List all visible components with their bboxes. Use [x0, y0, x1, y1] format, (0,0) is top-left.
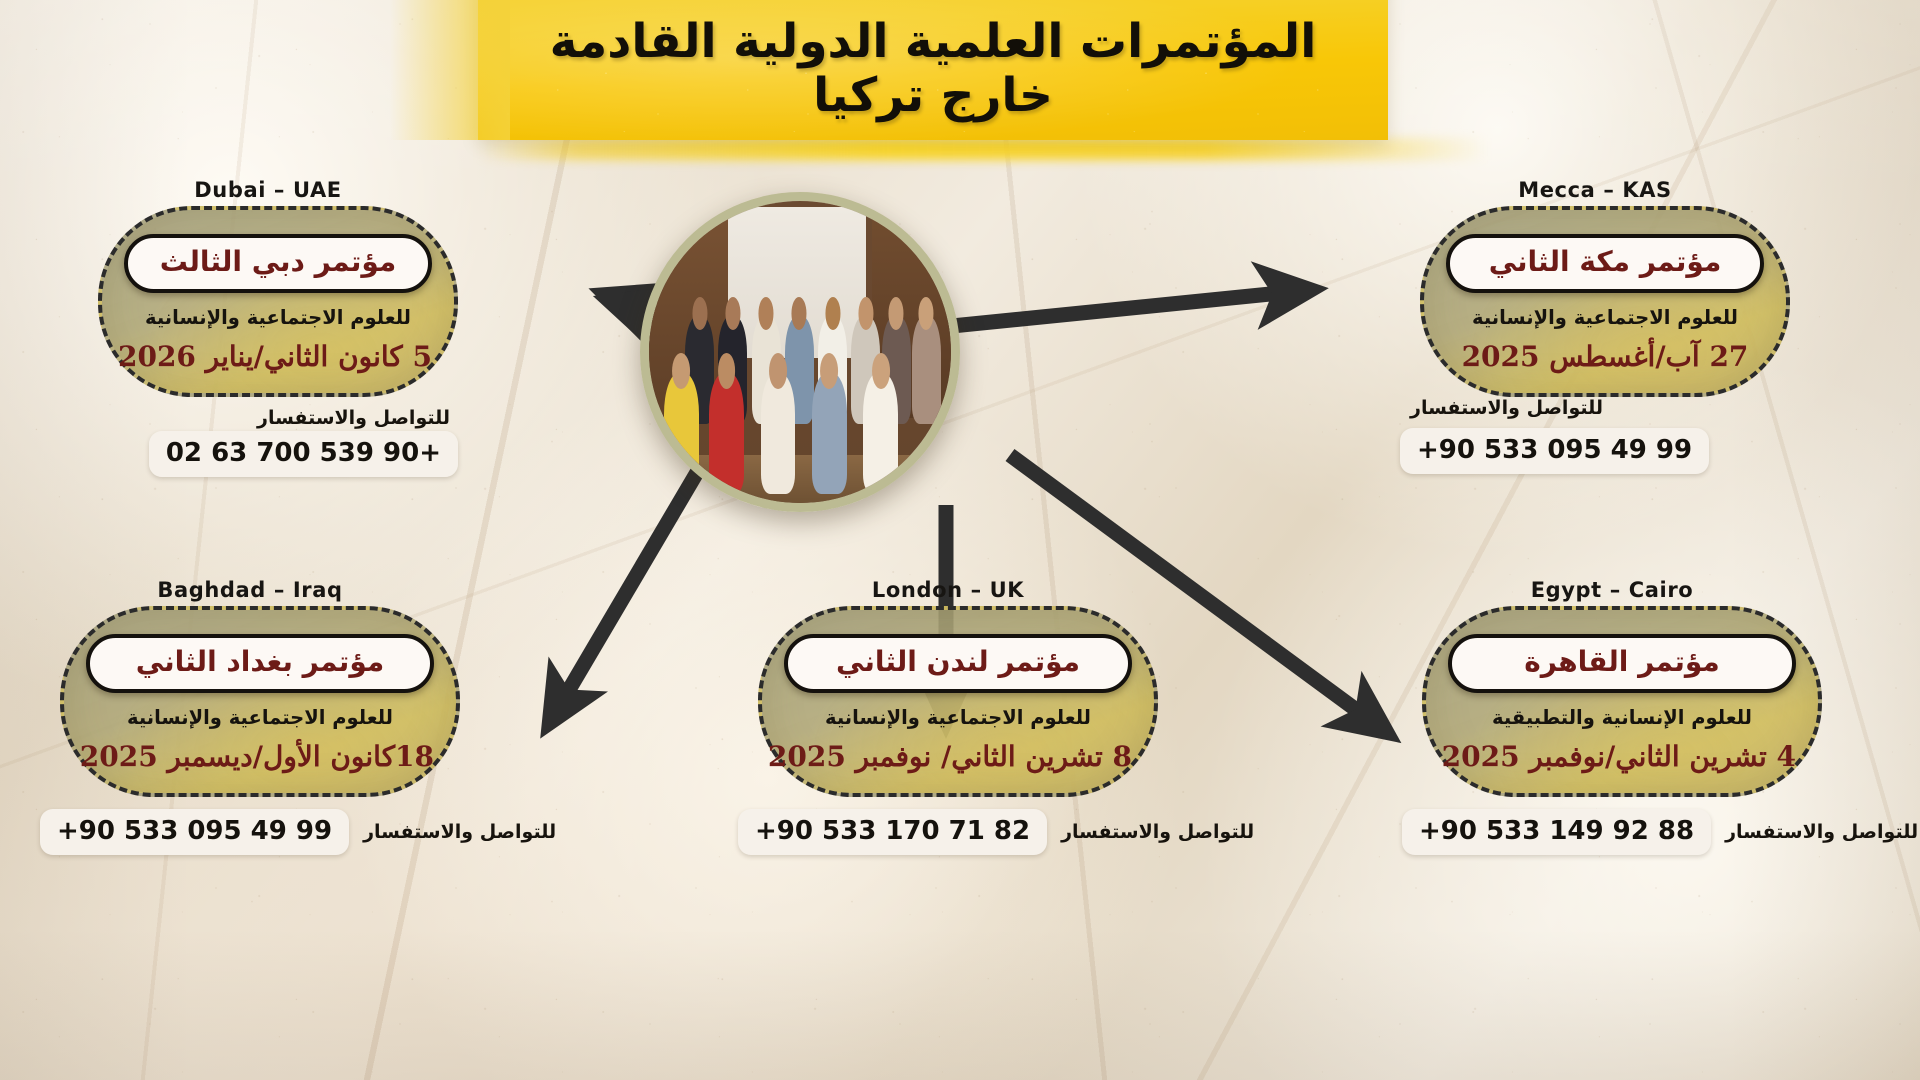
conference-date-mecca: 27 آب/أغسطس 2025 — [1446, 342, 1764, 373]
conference-card-baghdad[interactable]: Baghdad – Iraq مؤتمر بغداد الثاني للعلوم… — [40, 578, 460, 855]
conference-subtitle-london: للعلوم الاجتماعية والإنسانية — [784, 707, 1132, 729]
phone-number-dubai[interactable]: +90 539 700 63 02 — [149, 431, 458, 477]
conference-name-pill-dubai: مؤتمر دبي الثالث — [124, 234, 432, 293]
conference-card-mecca[interactable]: Mecca – KAS مؤتمر مكة الثاني للعلوم الاج… — [1400, 178, 1790, 474]
phone-number-mecca[interactable]: +90 533 095 49 99 — [1400, 428, 1709, 474]
contact-block-dubai: للتواصل والاستفسار +90 539 700 63 02 — [78, 407, 458, 468]
phone-number-baghdad[interactable]: +90 533 095 49 99 — [40, 809, 349, 855]
conference-card-dubai[interactable]: Dubai – UAE مؤتمر دبي الثالث للعلوم الاج… — [78, 178, 458, 468]
conference-subtitle-dubai: للعلوم الاجتماعية والإنسانية — [124, 307, 432, 329]
contact-block-mecca: للتواصل والاستفسار +90 533 095 49 99 — [1400, 397, 1790, 474]
card-body-dubai: مؤتمر دبي الثالث للعلوم الاجتماعية والإن… — [98, 206, 458, 397]
contact-block-london: للتواصل والاستفسار +90 533 170 71 82 — [738, 809, 1158, 855]
conference-group-photo — [640, 192, 960, 512]
conference-name-dubai: مؤتمر دبي الثالث — [160, 245, 397, 278]
card-body-baghdad: مؤتمر بغداد الثاني للعلوم الاجتماعية وال… — [60, 606, 460, 797]
conference-subtitle-baghdad: للعلوم الاجتماعية والإنسانية — [86, 707, 434, 729]
conference-date-baghdad: 18كانون الأول/ديسمبر 2025 — [86, 742, 434, 773]
contact-label-baghdad: للتواصل والاستفسار — [363, 821, 556, 843]
city-label-dubai: Dubai – UAE — [78, 178, 458, 202]
arrow-to-mecca — [912, 292, 1290, 330]
conference-date-dubai: 5 كانون الثاني/يناير 2026 — [124, 342, 432, 373]
conference-name-mecca: مؤتمر مكة الثاني — [1489, 245, 1722, 278]
conference-subtitle-cairo: للعلوم الإنسانية والتطبيقية — [1448, 707, 1796, 729]
conference-name-london: مؤتمر لندن الثاني — [836, 645, 1080, 678]
poster-canvas: المؤتمرات العلمية الدولية القادمة خارج ت… — [0, 0, 1920, 1080]
contact-label-mecca: للتواصل والاستفسار — [1410, 397, 1603, 419]
conference-name-pill-mecca: مؤتمر مكة الثاني — [1446, 234, 1764, 293]
card-body-london: مؤتمر لندن الثاني للعلوم الاجتماعية والإ… — [758, 606, 1158, 797]
conference-name-baghdad: مؤتمر بغداد الثاني — [136, 645, 384, 678]
city-label-cairo: Egypt – Cairo — [1402, 578, 1822, 602]
phone-number-cairo[interactable]: +90 533 149 92 88 — [1402, 809, 1711, 855]
contact-label-cairo: للتواصل والاستفسار — [1725, 821, 1918, 843]
conference-name-pill-london: مؤتمر لندن الثاني — [784, 634, 1132, 693]
contact-block-baghdad: للتواصل والاستفسار +90 533 095 49 99 — [40, 809, 460, 855]
contact-label-dubai: للتواصل والاستفسار — [257, 407, 450, 429]
conference-subtitle-mecca: للعلوم الاجتماعية والإنسانية — [1446, 307, 1764, 329]
conference-date-cairo: 4 تشرين الثاني/نوفمبر 2025 — [1448, 742, 1796, 773]
conference-date-london: 8 تشرين الثاني/ نوفمبر 2025 — [784, 742, 1132, 773]
photo-scene — [649, 201, 951, 503]
city-label-london: London – UK — [738, 578, 1158, 602]
conference-card-london[interactable]: London – UK مؤتمر لندن الثاني للعلوم الا… — [738, 578, 1158, 855]
city-label-mecca: Mecca – KAS — [1400, 178, 1790, 202]
conference-name-pill-baghdad: مؤتمر بغداد الثاني — [86, 634, 434, 693]
card-body-cairo: مؤتمر القاهرة للعلوم الإنسانية والتطبيقي… — [1422, 606, 1822, 797]
arrow-layer — [0, 0, 1920, 1080]
city-label-baghdad: Baghdad – Iraq — [40, 578, 460, 602]
conference-card-cairo[interactable]: Egypt – Cairo مؤتمر القاهرة للعلوم الإنس… — [1402, 578, 1822, 855]
contact-label-london: للتواصل والاستفسار — [1061, 821, 1254, 843]
contact-block-cairo: للتواصل والاستفسار +90 533 149 92 88 — [1402, 809, 1822, 855]
phone-number-london[interactable]: +90 533 170 71 82 — [738, 809, 1047, 855]
conference-name-pill-cairo: مؤتمر القاهرة — [1448, 634, 1796, 693]
card-body-mecca: مؤتمر مكة الثاني للعلوم الاجتماعية والإن… — [1420, 206, 1790, 397]
conference-name-cairo: مؤتمر القاهرة — [1524, 645, 1719, 678]
